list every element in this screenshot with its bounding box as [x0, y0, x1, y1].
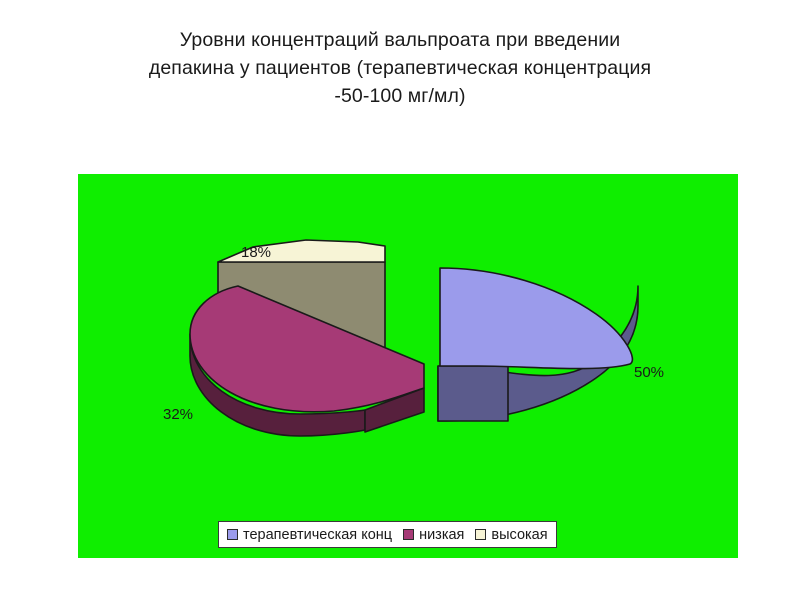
pie-slice-therapeutic[interactable] — [438, 268, 638, 421]
chart-legend: терапевтическая конц низкая высокая — [218, 521, 557, 548]
legend-swatch-low — [403, 529, 414, 540]
legend-item-high[interactable]: высокая — [475, 528, 547, 542]
legend-item-low[interactable]: низкая — [403, 528, 464, 542]
legend-swatch-therapeutic — [227, 529, 238, 540]
pie-slice-high-top — [218, 240, 385, 262]
chart-plot-area: 18% 32% 50% терапевтическая конц низкая … — [78, 174, 738, 558]
legend-label-high: высокая — [491, 528, 547, 542]
pie-slice-therapeutic-rim — [438, 366, 508, 421]
pie-slice-therapeutic-top — [440, 268, 632, 369]
legend-label-therapeutic: терапевтическая конц — [243, 528, 392, 542]
pie-chart-3d — [78, 174, 738, 558]
slide-title: Уровни концентраций вальпроата при введе… — [55, 26, 745, 110]
legend-swatch-high — [475, 529, 486, 540]
legend-item-therapeutic[interactable]: терапевтическая конц — [227, 528, 392, 542]
legend-label-low: низкая — [419, 528, 464, 542]
